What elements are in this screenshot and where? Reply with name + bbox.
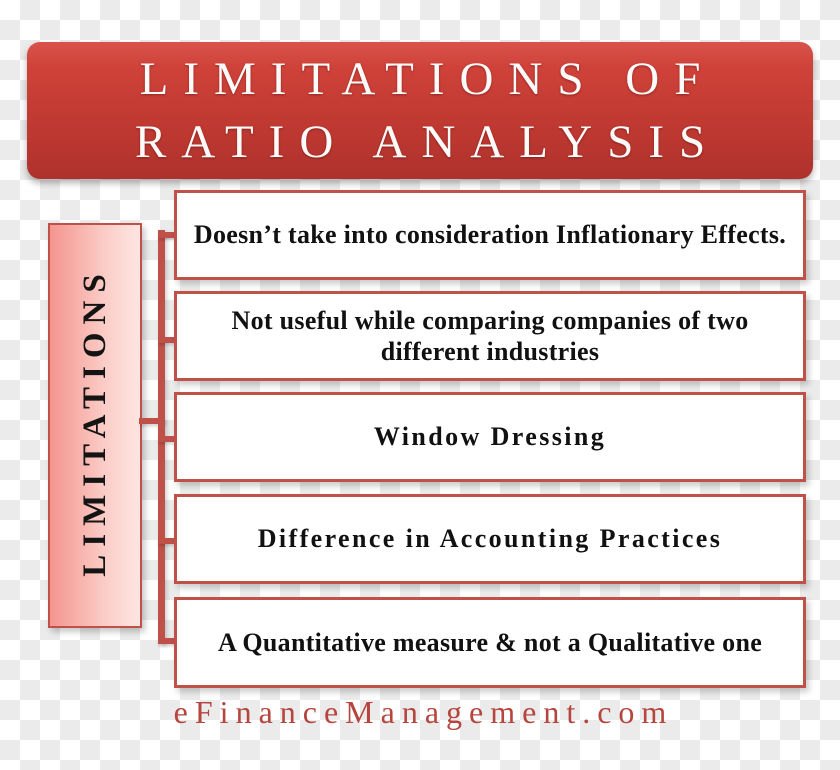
limitation-box-5[interactable]: A Quantitative measure & not a Qualitati…	[174, 597, 806, 688]
limitation-box-1[interactable]: Doesn’t take into consideration Inflatio…	[174, 190, 806, 280]
limitations-sidebar: LIMITATIONS	[48, 223, 142, 628]
title-banner: LIMITATIONS OF RATIO ANALYSIS	[27, 42, 813, 179]
limitation-text-2: Not useful while comparing companies of …	[189, 305, 791, 367]
limitation-text-5: A Quantitative measure & not a Qualitati…	[218, 627, 762, 658]
limitation-box-3[interactable]: Window Dressing	[174, 392, 806, 482]
limitation-text-3: Window Dressing	[374, 421, 606, 452]
limitation-box-4[interactable]: Difference in Accounting Practices	[174, 494, 806, 584]
title-line-1: LIMITATIONS OF	[125, 48, 716, 110]
limitation-text-4: Difference in Accounting Practices	[258, 523, 723, 554]
infographic-canvas: LIMITATIONS OF RATIO ANALYSIS LIMITATION…	[0, 0, 840, 770]
footer-branding: eFinanceManagement.com	[0, 694, 840, 731]
limitation-box-2[interactable]: Not useful while comparing companies of …	[174, 291, 806, 381]
sidebar-label: LIMITATIONS	[77, 266, 114, 585]
limitation-text-1: Doesn’t take into consideration Inflatio…	[194, 219, 786, 250]
title-line-2: RATIO ANALYSIS	[120, 111, 720, 173]
